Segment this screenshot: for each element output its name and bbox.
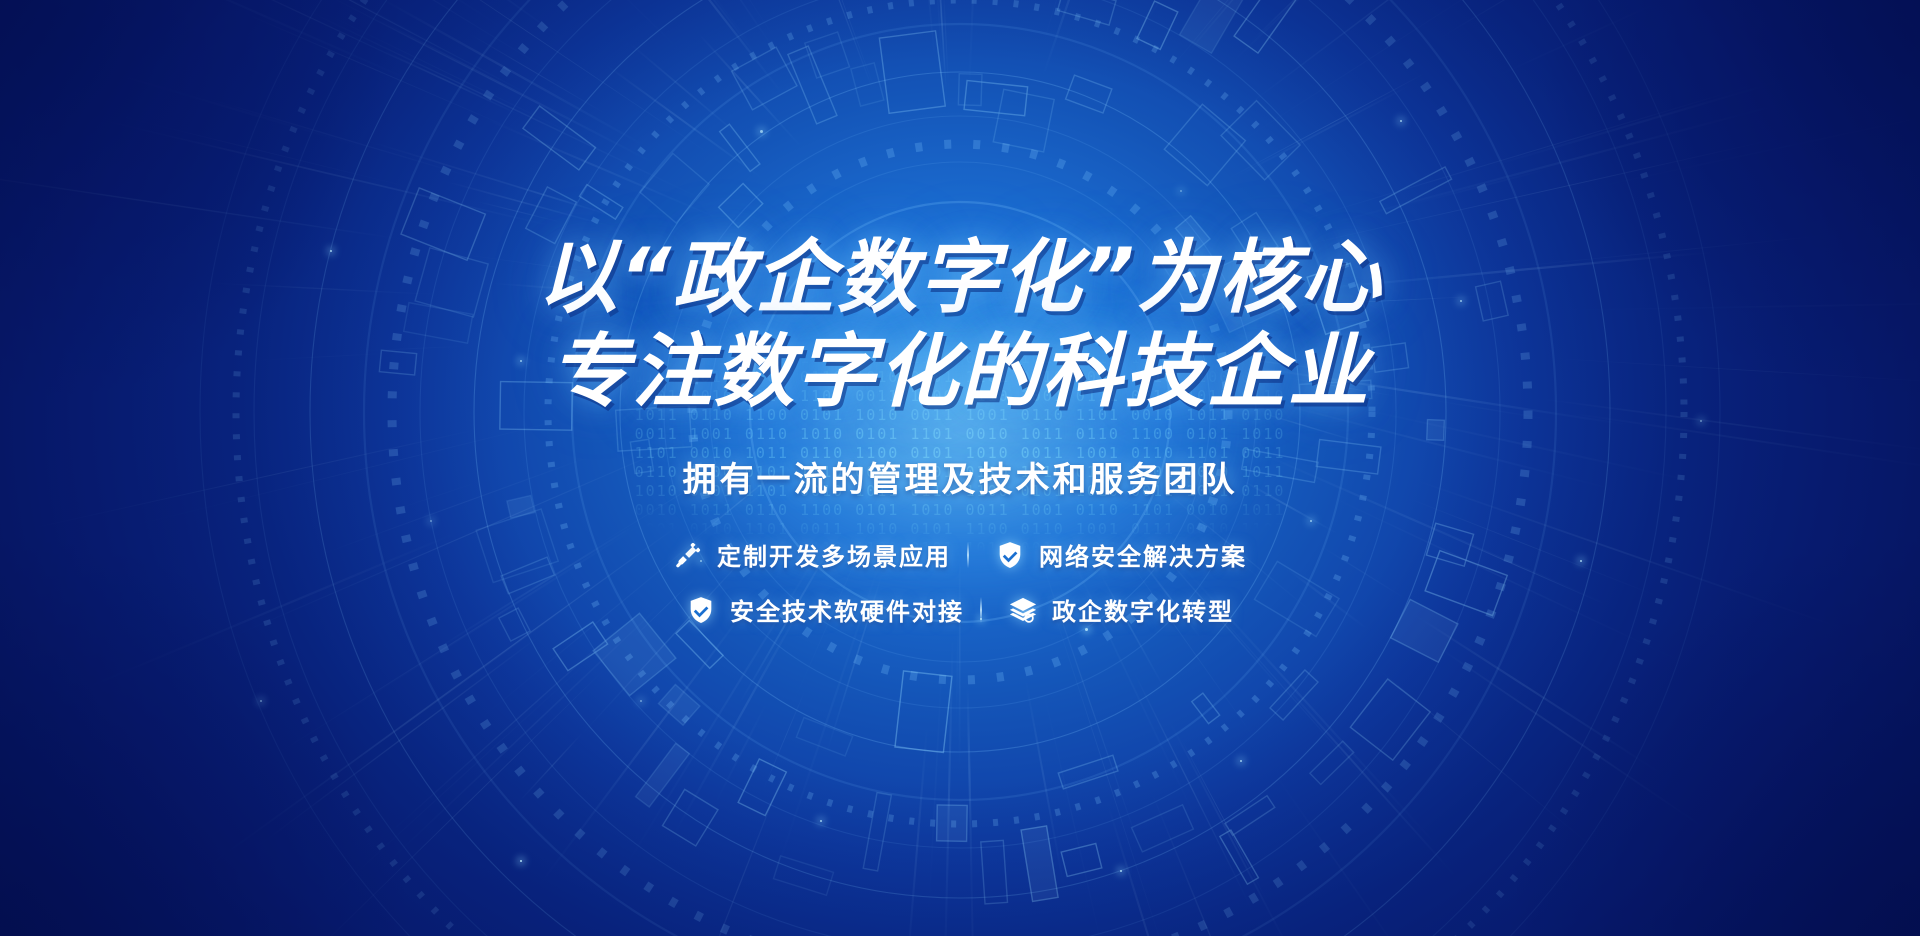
feature-label: 定制开发多场景应用: [717, 537, 951, 572]
feature-label: 网络安全解决方案: [1039, 537, 1247, 572]
feature-row-1: 定制开发多场景应用 网络安全解决方案: [673, 537, 1247, 572]
layers-stack-icon: [1008, 595, 1038, 625]
feature-item-digital-transformation[interactable]: 政企数字化转型: [1008, 592, 1234, 627]
subtitle: 拥有一流的管理及技术和服务团队: [683, 452, 1238, 501]
banner-content: 以“政企数字化”为核心 专注数字化的科技企业 拥有一流的管理及技术和服务团队: [0, 0, 1920, 936]
feature-label: 政企数字化转型: [1052, 592, 1234, 627]
feature-item-network-security[interactable]: 网络安全解决方案: [995, 537, 1247, 572]
feature-label: 安全技术软硬件对接: [730, 592, 964, 627]
feature-row-2: 安全技术软硬件对接 政企数字化转型: [673, 592, 1247, 627]
feature-item-custom-development[interactable]: 定制开发多场景应用: [673, 537, 941, 572]
headline: 以“政企数字化”为核心 专注数字化的科技企业: [537, 238, 1382, 412]
headline-line-1: 以“政企数字化”为核心: [537, 238, 1382, 318]
feature-item-security-integration[interactable]: 安全技术软硬件对接: [686, 592, 954, 627]
shield-check-icon: [686, 595, 716, 625]
banner-hero: 1001 0110 1011 0010 1101 0011 1010 0101 …: [0, 0, 1920, 936]
feature-separator: [980, 597, 982, 623]
plug-connector-icon: [673, 540, 703, 570]
headline-line-2: 专注数字化的科技企业: [537, 332, 1382, 412]
feature-list: 定制开发多场景应用 网络安全解决方案: [673, 537, 1247, 627]
feature-separator: [967, 542, 969, 568]
shield-check-icon: [995, 540, 1025, 570]
